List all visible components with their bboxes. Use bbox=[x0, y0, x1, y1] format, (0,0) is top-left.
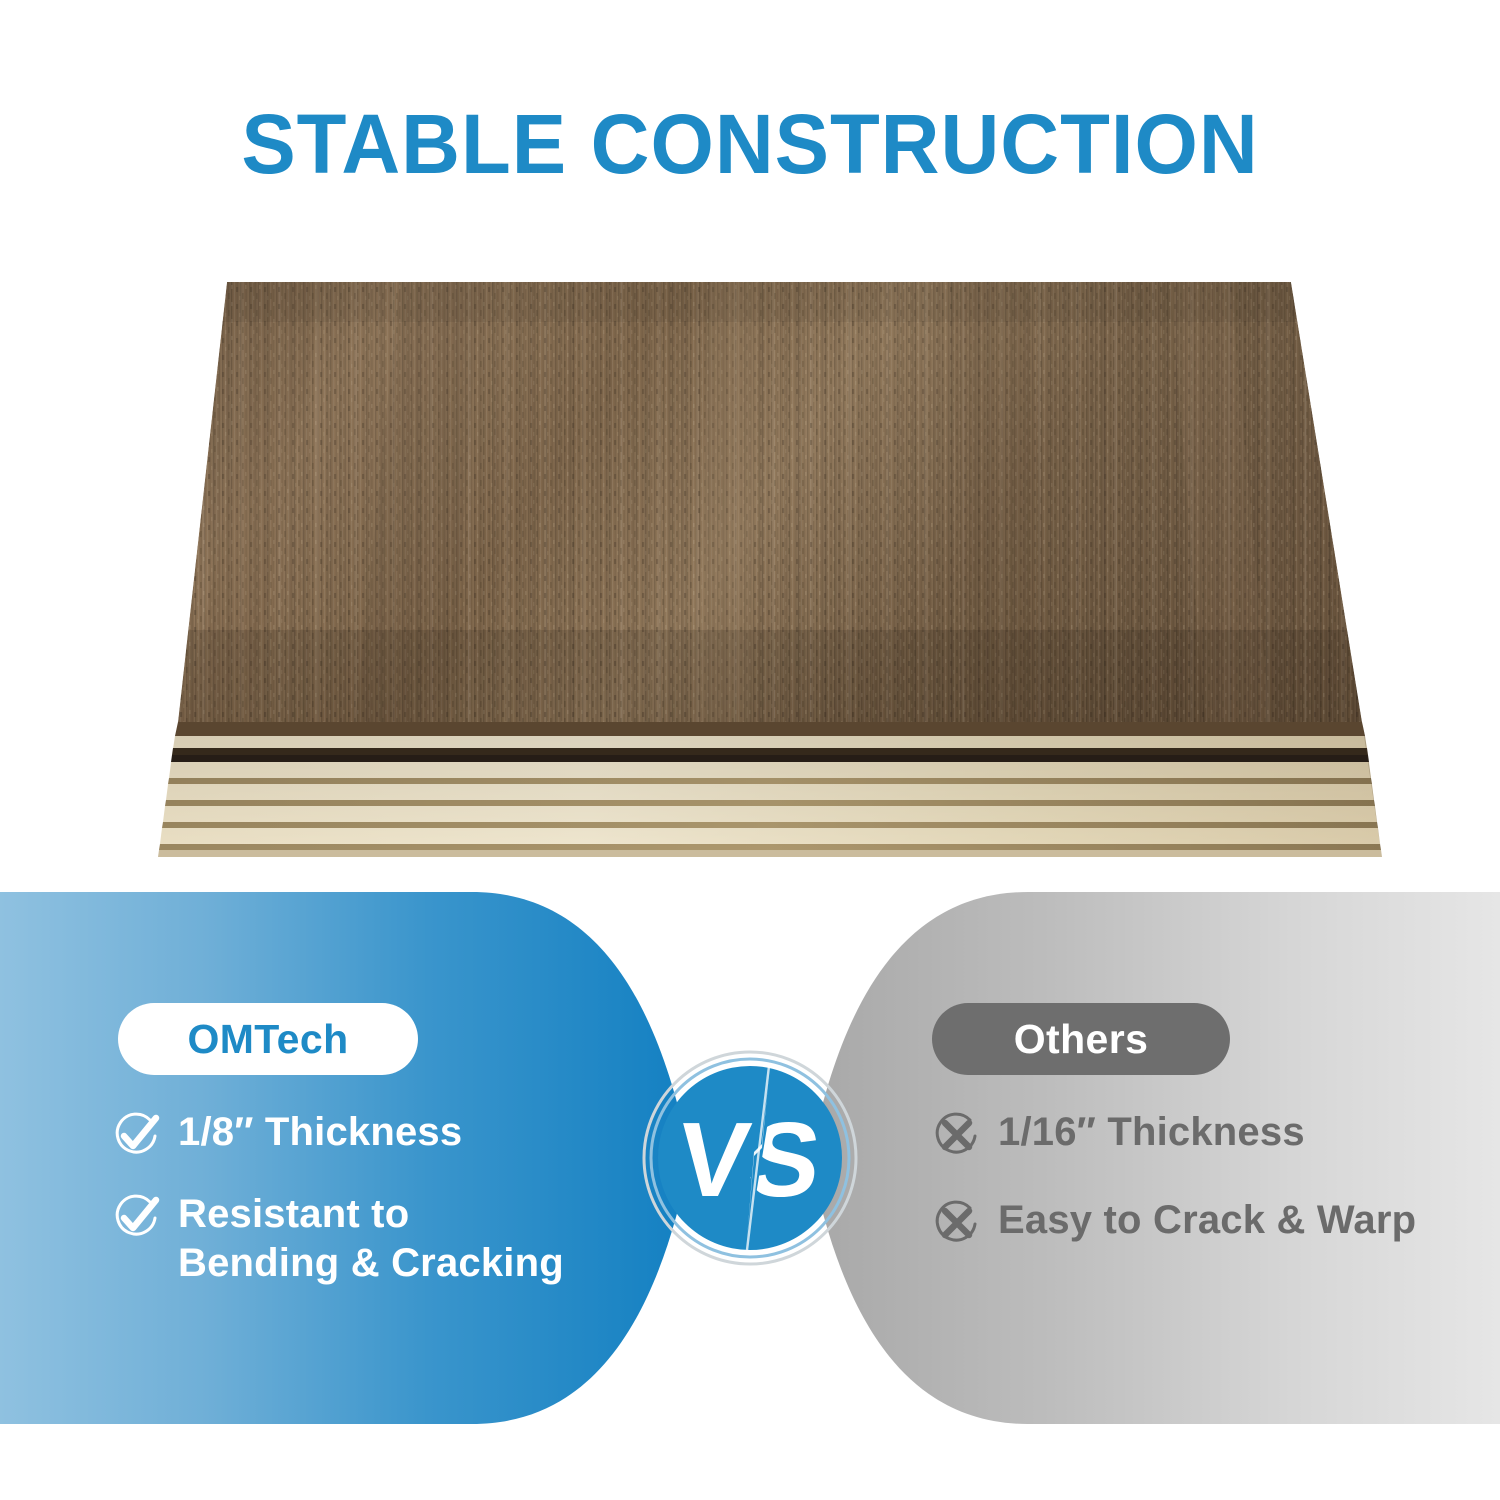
feature-text: Easy to Crack & Warp bbox=[998, 1196, 1416, 1245]
others-brand-pill: Others bbox=[932, 1003, 1230, 1075]
others-feature-list: 1/16″ Thickness Easy to Crack & Warp bbox=[930, 1108, 1500, 1284]
feature-text: Resistant toBending & Cracking bbox=[178, 1190, 564, 1288]
omtech-brand-pill: OMTech bbox=[118, 1003, 418, 1075]
omtech-column: OMTech 1/8″ Thickness Re bbox=[0, 868, 660, 1448]
plywood-sheet-stack-illustration bbox=[150, 250, 1390, 860]
omtech-feature-list: 1/8″ Thickness Resistant toBending & Cra… bbox=[110, 1108, 650, 1316]
list-item: Resistant toBending & Cracking bbox=[110, 1190, 650, 1288]
list-item: 1/8″ Thickness bbox=[110, 1108, 650, 1162]
x-circle-icon bbox=[930, 1198, 982, 1250]
others-column: Others 1/16″ Thickness E bbox=[900, 868, 1500, 1448]
list-item: 1/16″ Thickness bbox=[930, 1108, 1500, 1162]
check-circle-icon bbox=[110, 1192, 162, 1244]
list-item: Easy to Crack & Warp bbox=[930, 1196, 1500, 1250]
plywood-ply-edges bbox=[158, 722, 1382, 857]
feature-text: 1/8″ Thickness bbox=[178, 1108, 462, 1157]
feature-text: 1/16″ Thickness bbox=[998, 1108, 1305, 1157]
check-circle-icon bbox=[110, 1110, 162, 1162]
x-circle-icon bbox=[930, 1110, 982, 1162]
product-image bbox=[150, 250, 1390, 860]
page-title: STABLE CONSTRUCTION bbox=[23, 96, 1478, 193]
veneer-face bbox=[150, 282, 1390, 725]
versus-badge: VS VS VS bbox=[640, 1048, 860, 1268]
